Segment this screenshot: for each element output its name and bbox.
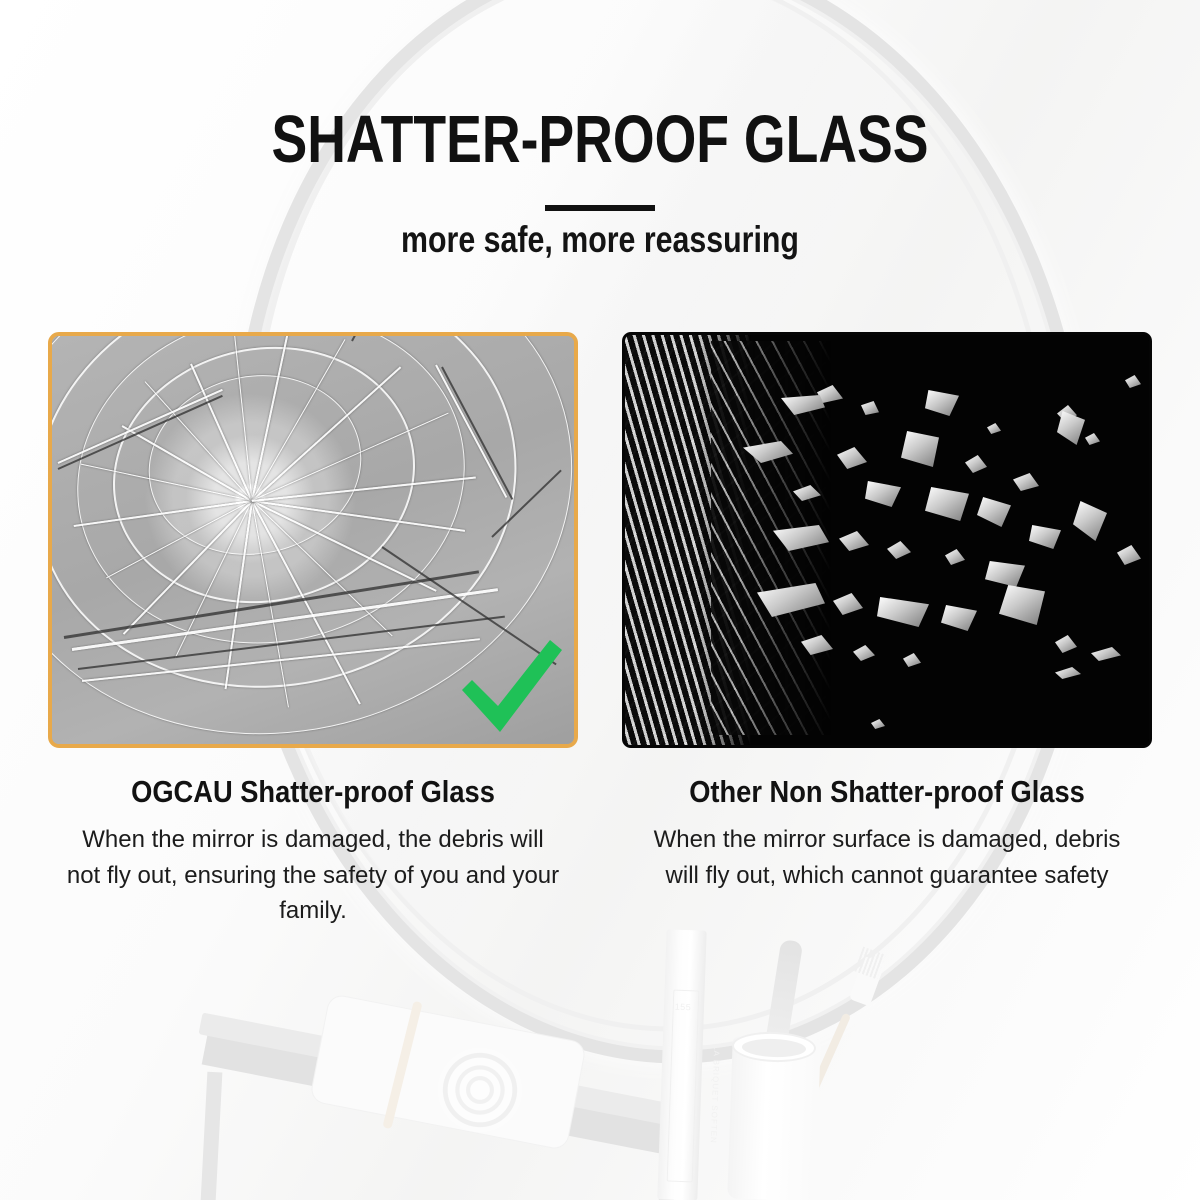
bad-glass-photo-frame — [622, 332, 1152, 748]
good-glass-caption-body: When the mirror is damaged, the debris w… — [63, 822, 563, 929]
bad-glass-caption-body: When the mirror surface is damaged, debr… — [637, 822, 1137, 893]
good-glass-panel — [48, 332, 578, 748]
bad-glass-caption-title: Other Non Shatter-proof Glass — [649, 773, 1124, 810]
bad-glass-caption: Other Non Shatter-proof Glass When the m… — [617, 773, 1157, 893]
infographic-canvas: 155 LA BRIQUET SOFTEN SHATTER-PROOF GLAS… — [0, 0, 1200, 1200]
good-glass-caption: OGCAU Shatter-proof Glass When the mirro… — [43, 773, 583, 929]
good-glass-photo-frame — [48, 332, 578, 748]
bad-glass-panel — [622, 332, 1152, 748]
cracked-intact-glass-photo — [52, 336, 574, 744]
shattering-glass-photo — [625, 335, 1149, 745]
good-glass-caption-title: OGCAU Shatter-proof Glass — [75, 773, 550, 810]
comparison-panels — [0, 0, 1200, 1200]
check-mark-icon — [456, 638, 564, 738]
